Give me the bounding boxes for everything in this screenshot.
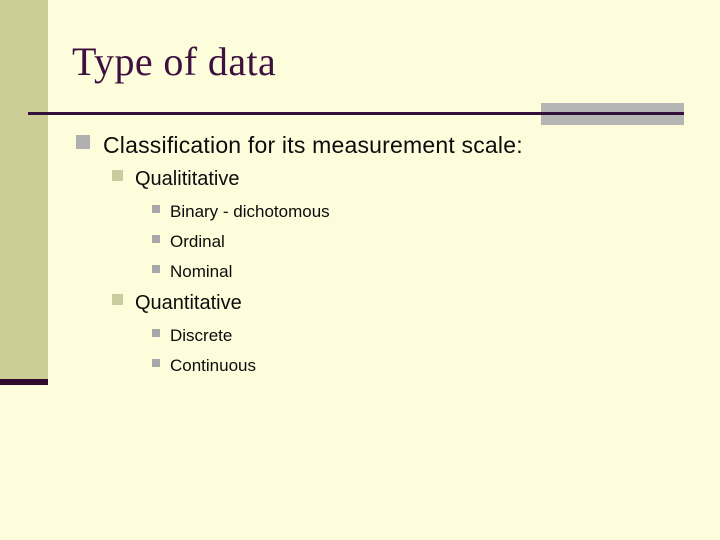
bullet-item-label: Classification for its measurement scale… — [103, 130, 523, 160]
bullet-item-label: Discrete — [170, 324, 232, 348]
header-divider-rule — [28, 112, 684, 115]
square-bullet-small-gray-icon — [152, 329, 160, 337]
bullet-item-label: Ordinal — [170, 230, 225, 254]
square-bullet-small-gray-icon — [152, 359, 160, 367]
bullet-item-label: Qualititative — [135, 166, 240, 193]
bullet-item-level-2: Qualititative — [0, 166, 720, 200]
bullet-item-level-3: Continuous — [0, 354, 720, 384]
presentation-slide: Type of data Classification for its meas… — [0, 0, 720, 540]
bullet-item-label: Binary - dichotomous — [170, 200, 330, 224]
square-bullet-olive-icon — [112, 294, 123, 305]
square-bullet-small-gray-icon — [152, 265, 160, 273]
square-bullet-gray-icon — [76, 135, 90, 149]
bullet-item-level-3: Binary - dichotomous — [0, 200, 720, 230]
square-bullet-olive-icon — [112, 170, 123, 181]
bullet-item-level-2: Quantitative — [0, 290, 720, 324]
bullet-item-level-3: Nominal — [0, 260, 720, 290]
page-title: Type of data — [72, 40, 276, 85]
bullet-item-label: Continuous — [170, 354, 256, 378]
bullet-item-level-3: Discrete — [0, 324, 720, 354]
bullet-item-level-3: Ordinal — [0, 230, 720, 260]
square-bullet-small-gray-icon — [152, 205, 160, 213]
slide-body-bullet-list: Classification for its measurement scale… — [0, 130, 720, 384]
bullet-item-label: Quantitative — [135, 290, 242, 317]
bullet-item-label: Nominal — [170, 260, 232, 284]
bullet-item-level-1: Classification for its measurement scale… — [0, 130, 720, 166]
square-bullet-small-gray-icon — [152, 235, 160, 243]
